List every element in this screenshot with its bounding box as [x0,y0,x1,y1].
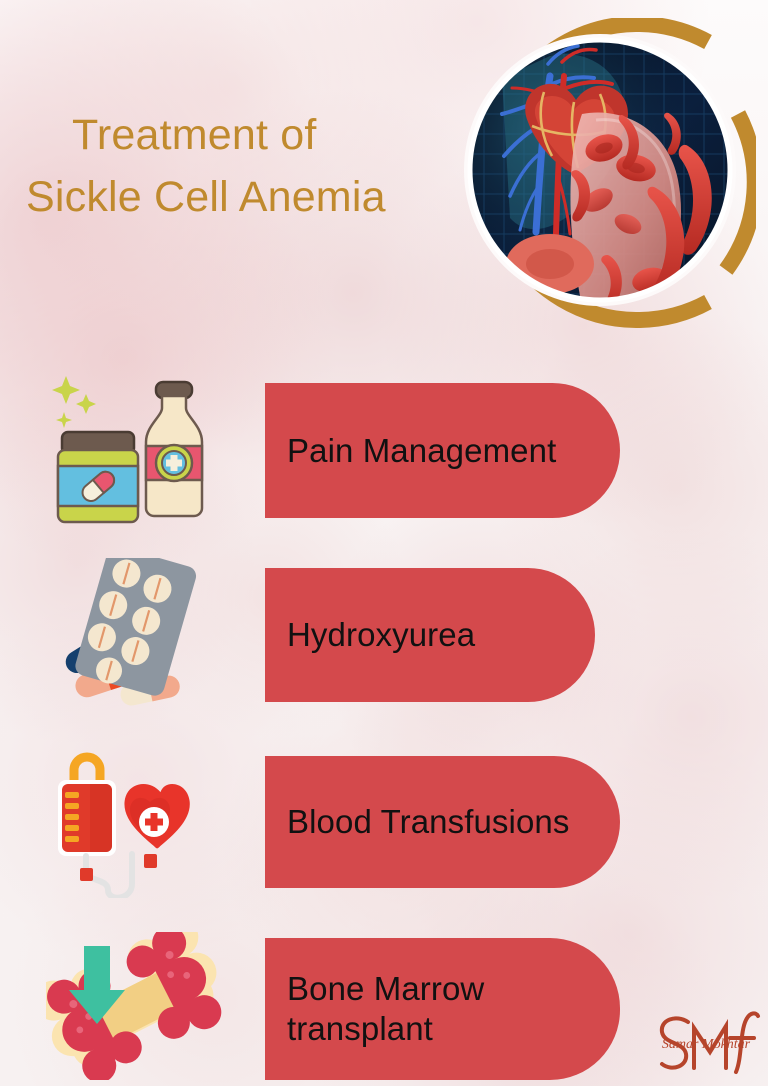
poster-canvas: Treatment of Sickle Cell Anemia [0,0,768,1086]
treatment-label-1: Pain Management [265,431,556,471]
bone-marrow-transplant-icon [46,932,226,1080]
signature-watermark: Samar Mokhtar [650,1002,762,1082]
treatment-label-2: Hydroxyurea [265,615,475,655]
treatment-label-4: Bone Marrow transplant [265,969,484,1049]
bone-icon [46,932,226,1080]
blood-transfusions-icon [52,750,202,898]
title-line-2: Sickle Cell Anemia [26,166,492,228]
treatment-bar-3[interactable]: Blood Transfusions [265,756,620,888]
signature-name: Samar Mokhtar [662,1037,751,1052]
medicine-bottle-icon [146,382,202,516]
heart-plus-icon [124,784,189,848]
treatment-label-3: Blood Transfusions [265,802,569,842]
treatment-bar-2[interactable]: Hydroxyurea [265,568,595,702]
hydroxyurea-icon [44,558,214,708]
pill-jar-icon [58,432,138,522]
pain-management-icon [44,368,214,528]
title-line-1: Treatment of [72,104,492,166]
treatment-bar-4[interactable]: Bone Marrow transplant [265,938,620,1080]
blister-pack-icon [73,558,199,699]
blood-bag-icon [58,780,116,856]
page-title: Treatment of Sickle Cell Anemia [72,104,492,228]
treatment-bar-1[interactable]: Pain Management [265,383,620,518]
sparkle-icon [52,376,96,428]
